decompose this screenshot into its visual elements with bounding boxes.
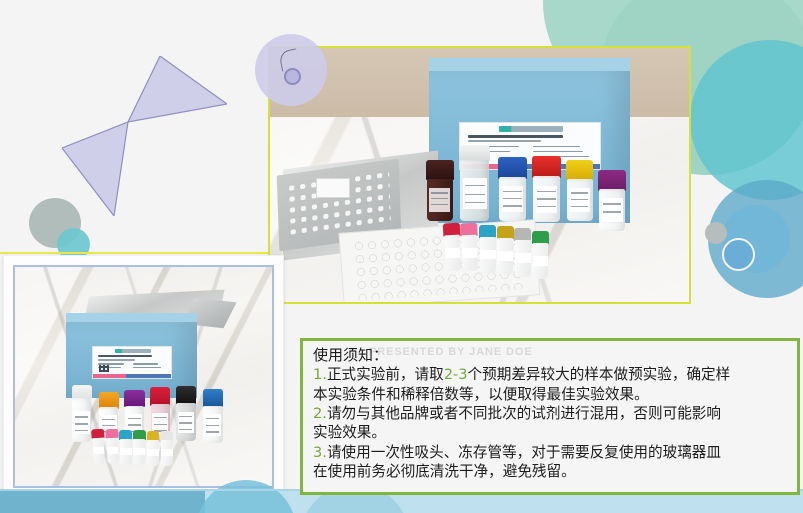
reagent-bottle-dark-brown	[426, 160, 454, 221]
bottle-label	[536, 186, 558, 212]
decor-teal-circle-medium	[708, 180, 803, 298]
bottle-cap-red	[532, 156, 560, 178]
vial-label-ring	[106, 447, 118, 454]
reagent-bottle-yellow	[566, 160, 594, 221]
bottle-label	[74, 411, 90, 434]
microplate-label	[316, 178, 350, 198]
vial-green	[133, 430, 146, 465]
usage-note-item-1-cont: 本实验条件和稀释倍数等，以便取得最佳实验效果。	[313, 385, 789, 404]
vial-cyan	[479, 225, 496, 273]
reagent-bottle-red	[532, 156, 560, 222]
kit-label-brand-strip	[115, 349, 151, 353]
kit-label-brand-strip	[499, 126, 564, 132]
vial-cap-green	[532, 231, 549, 244]
usage-note-item-2: 2.请勿与其他品牌或者不同批次的试剂进行混用，否则可能影响	[313, 404, 789, 423]
slide-canvas: PRESENTED BY JANE DOE 使用须知： 1.正式实验前，请取2-…	[0, 0, 803, 513]
note-1-text-b: 个预期差异较大的样本做预实验，确定样	[468, 366, 731, 383]
bottle-label	[502, 186, 524, 211]
vial-cap-gray	[514, 228, 531, 241]
reagent-bottle-white-screw	[459, 145, 490, 221]
note-number-2: 2.	[313, 405, 327, 422]
decor-blue-dot	[722, 238, 755, 271]
reagent-bottle-white	[72, 385, 93, 442]
kit-box-label	[92, 346, 172, 379]
decor-corner-ring	[284, 68, 301, 85]
vial-white	[160, 431, 173, 466]
vial-label-ring	[515, 253, 531, 263]
kit-box-top-edge	[66, 313, 197, 322]
note-1-text-a: 正式实验前，请取	[327, 366, 444, 383]
usage-note-item-2-cont: 实验效果。	[313, 423, 789, 442]
vial-pink	[461, 223, 480, 272]
bottle-cap-red	[150, 387, 171, 406]
vial-cap-cyan	[479, 225, 496, 238]
vial-label-ring	[480, 250, 496, 260]
usage-notes-box: PRESENTED BY JANE DOE 使用须知： 1.正式实验前，请取2-…	[300, 338, 800, 495]
note-3-text-a: 请使用一次性吸头、冻存管等，对于需要反复使用的玻璃器皿	[327, 444, 721, 461]
vial-label-ring	[120, 448, 132, 455]
vial-label-ring	[147, 449, 159, 456]
vial-label-ring	[93, 447, 105, 455]
vial-pink	[105, 429, 119, 464]
usage-note-item-1: 1.正式实验前，请取2-3个预期差异较大的样本做预实验，确定样	[313, 365, 789, 384]
decor-yellow-rule	[0, 252, 286, 254]
vial-label-ring	[133, 448, 145, 455]
reagent-bottle-black	[176, 386, 197, 441]
bottle-label	[178, 412, 194, 434]
usage-notes-title: 使用须知：	[313, 345, 789, 365]
bottle-cap-purple	[124, 390, 145, 408]
kit-label-lot-line	[533, 146, 581, 148]
kit-box-top-edge	[429, 58, 630, 71]
usage-note-item-3: 3.请使用一次性吸头、冻存管等，对于需要反复使用的玻璃器皿	[313, 443, 789, 462]
bottle-cap-black	[176, 386, 197, 405]
reagent-bottle-blue	[203, 389, 224, 444]
bottle-label	[429, 188, 450, 212]
reagent-bottle-purple	[598, 170, 626, 231]
kit-label-lot-line	[133, 363, 158, 365]
bottle-label	[205, 414, 221, 436]
vial-green	[532, 231, 549, 279]
vial-crimson	[91, 429, 106, 465]
decor-gray-circle-left	[29, 198, 81, 248]
vial-label-ring	[533, 256, 549, 266]
bottle-cap-white	[72, 385, 93, 399]
kit-label-title-line	[98, 355, 152, 357]
bottle-cap-yellow	[566, 160, 594, 181]
bottle-cap-dark-brown	[426, 160, 454, 181]
bottle-label	[463, 178, 487, 208]
vial-label-ring	[161, 449, 173, 456]
note-number-3: 3.	[313, 444, 327, 461]
vial-gray	[514, 228, 531, 276]
bottle-cap-purple	[598, 170, 626, 191]
decor-gray-dot	[705, 222, 727, 244]
vial-yellow	[147, 431, 160, 466]
elisa-kit-wide-photo	[268, 46, 691, 304]
kit-label-title-line	[468, 135, 564, 138]
vial-crimson	[443, 223, 463, 272]
bottle-cap-orange	[99, 392, 120, 409]
vial-label-ring	[462, 248, 478, 258]
kit-label-tel-line	[133, 367, 161, 369]
kit-label-tel-line	[533, 151, 584, 153]
usage-note-item-3-cont: 在使用前务必彻底清洗干净，避免残留。	[313, 462, 789, 481]
reagent-bottle-blue	[498, 157, 526, 221]
kit-label-qr-code	[99, 365, 108, 372]
bottle-cap-white	[459, 145, 490, 162]
elisa-kit-closeup-photo	[3, 255, 284, 498]
note-1-highlight: 2-3	[444, 366, 468, 383]
vial-olive	[497, 226, 514, 274]
kit-label-subtitle-line	[98, 359, 135, 361]
vial-cyan	[119, 430, 132, 465]
kit-label-subtitle-line	[468, 140, 541, 142]
note-2-text-a: 请勿与其他品牌或者不同批次的试剂进行混用，否则可能影响	[327, 405, 721, 422]
vial-label-ring	[445, 248, 461, 258]
vial-cap-olive	[497, 226, 514, 239]
bottle-label	[569, 188, 590, 212]
bottle-cap-blue	[498, 157, 526, 179]
bottle-label	[602, 198, 623, 222]
vial-label-ring	[497, 251, 513, 261]
kit-label-color-band	[93, 374, 171, 377]
decor-teal-circle-large	[690, 40, 803, 200]
decor-blue-circle-small	[722, 205, 790, 273]
note-number-1: 1.	[313, 366, 327, 383]
decor-bowtie-triangles	[62, 56, 227, 216]
bottle-cap-blue	[203, 389, 224, 408]
